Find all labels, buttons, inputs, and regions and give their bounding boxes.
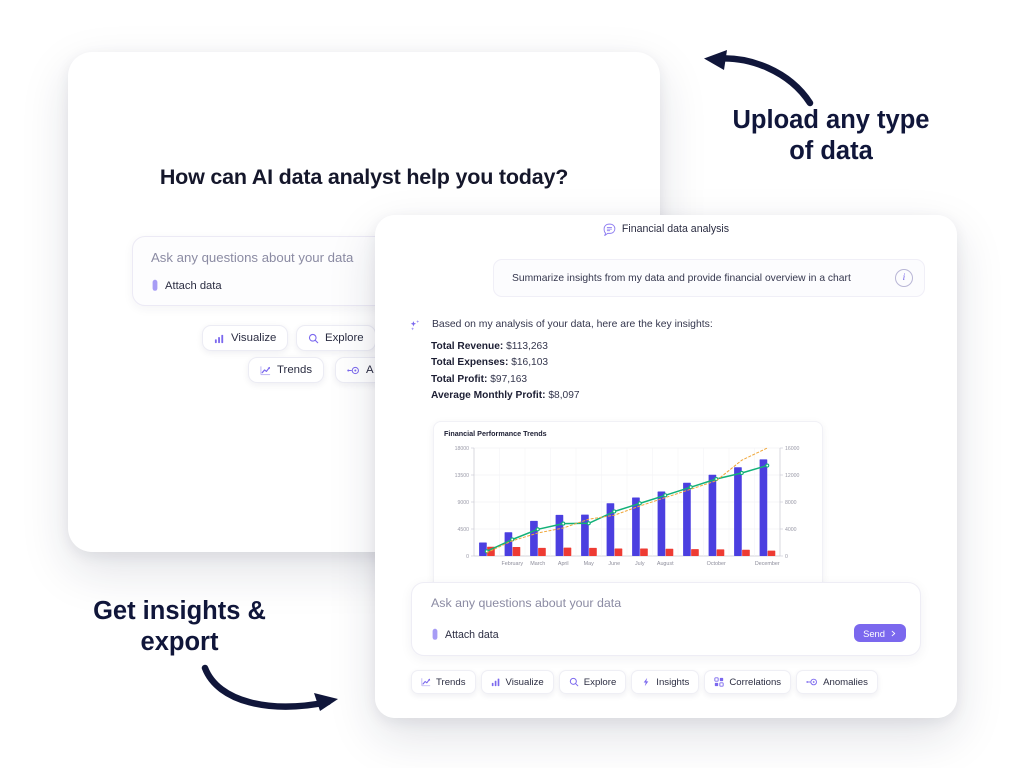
back-chat-input-placeholder: Ask any questions about your data — [151, 250, 353, 265]
chat-composer[interactable]: Ask any questions about your data Attach… — [411, 582, 921, 656]
svg-text:March: March — [530, 561, 545, 567]
paperclip-icon — [151, 279, 159, 292]
chart-title: Financial Performance Trends — [444, 429, 547, 438]
quick-action-toolbar: Trends Visualize Explore — [411, 670, 931, 694]
toolbar-button-anomalies[interactable]: Anomalies — [796, 670, 878, 694]
trend-line-icon — [421, 677, 431, 687]
user-message-text: Summarize insights from my data and prov… — [512, 273, 851, 284]
back-pill-anomalies-label: A — [366, 364, 374, 376]
svg-text:12000: 12000 — [785, 473, 800, 479]
metric-label: Total Revenue: — [431, 341, 503, 352]
metric-value: $97,163 — [490, 374, 527, 385]
svg-text:June: June — [608, 561, 620, 567]
svg-text:0: 0 — [785, 554, 788, 560]
back-pill-visualize[interactable]: Visualize — [202, 325, 288, 351]
metric-row: Total Expenses: $16,103 — [431, 355, 580, 371]
chat-input-placeholder: Ask any questions about your data — [431, 596, 621, 610]
lightning-bolt-icon — [641, 677, 651, 687]
toolbar-button-trends[interactable]: Trends — [411, 670, 476, 694]
toolbar-button-visualize-label: Visualize — [506, 677, 544, 688]
back-attach-label: Attach data — [165, 280, 222, 292]
back-window-heading: How can AI data analyst help you today? — [68, 165, 660, 190]
toolbar-button-visualize[interactable]: Visualize — [481, 670, 554, 694]
toolbar-button-trends-label: Trends — [436, 677, 466, 688]
toolbar-button-explore[interactable]: Explore — [559, 670, 627, 694]
bar-chart-icon — [214, 333, 225, 344]
toolbar-button-insights-label: Insights — [656, 677, 689, 688]
metric-row: Average Monthly Profit: $8,097 — [431, 388, 580, 404]
svg-text:February: February — [501, 561, 523, 567]
chevron-right-icon — [890, 630, 897, 637]
svg-text:April: April — [558, 561, 569, 567]
attach-data-label: Attach data — [445, 629, 499, 641]
toolbar-button-correlations-label: Correlations — [729, 677, 781, 688]
user-message-bubble: Summarize insights from my data and prov… — [493, 259, 925, 297]
svg-text:May: May — [584, 561, 594, 567]
trend-line-icon — [260, 365, 271, 376]
svg-text:4000: 4000 — [785, 527, 797, 533]
svg-text:October: October — [707, 561, 726, 567]
svg-text:18000: 18000 — [455, 446, 470, 452]
back-pill-trends[interactable]: Trends — [248, 357, 324, 383]
assistant-message: Based on my analysis of your data, here … — [408, 319, 713, 333]
back-pill-explore-label: Explore — [325, 332, 364, 344]
back-attach-data-button[interactable]: Attach data — [151, 279, 222, 292]
grid-squares-icon — [714, 677, 724, 687]
sparkles-icon — [408, 319, 422, 333]
metric-label: Total Expenses: — [431, 357, 508, 368]
metric-value: $8,097 — [548, 390, 579, 401]
svg-text:December: December — [755, 561, 780, 567]
send-button[interactable]: Send — [854, 624, 906, 642]
metric-label: Total Profit: — [431, 374, 487, 385]
metric-label: Average Monthly Profit: — [431, 390, 546, 401]
back-pill-trends-label: Trends — [277, 364, 312, 376]
front-window-body: Summarize insights from my data and prov… — [375, 243, 957, 718]
screen: How can AI data analyst help you today? … — [0, 0, 1024, 768]
anomalies-target-icon — [347, 365, 360, 376]
svg-text:16000: 16000 — [785, 446, 800, 452]
chart-svg: 04500900013500180000400080001200016000Fe… — [444, 444, 814, 578]
annotation-insights: Get insights & export — [62, 596, 297, 659]
svg-text:0: 0 — [466, 554, 469, 560]
curved-arrow-right-icon — [200, 660, 350, 725]
back-pill-visualize-label: Visualize — [231, 332, 276, 344]
bar-chart-icon — [491, 677, 501, 687]
metric-value: $16,103 — [511, 357, 548, 368]
svg-text:July: July — [635, 561, 645, 567]
chat-bubble-lines-icon — [603, 223, 616, 236]
annotation-upload: Upload any type of data — [700, 105, 962, 168]
back-pill-explore[interactable]: Explore — [296, 325, 376, 351]
send-button-label: Send — [863, 628, 885, 639]
metric-row: Total Revenue: $113,263 — [431, 339, 580, 355]
front-window: Financial data analysis Summarize insigh… — [375, 215, 957, 718]
anomalies-target-icon — [806, 677, 818, 687]
attach-data-button[interactable]: Attach data — [431, 628, 499, 641]
svg-text:4500: 4500 — [457, 527, 469, 533]
toolbar-button-explore-label: Explore — [584, 677, 617, 688]
front-window-header: Financial data analysis — [375, 215, 957, 244]
assistant-intro-text: Based on my analysis of your data, here … — [432, 319, 713, 333]
curved-arrow-left-icon — [695, 48, 815, 113]
paperclip-icon — [431, 628, 439, 641]
svg-text:13500: 13500 — [455, 473, 470, 479]
svg-text:9000: 9000 — [457, 500, 469, 506]
toolbar-button-insights[interactable]: Insights — [631, 670, 699, 694]
front-window-title: Financial data analysis — [622, 223, 729, 235]
financial-chart-card: Financial Performance Trends 04500900013… — [433, 421, 823, 605]
svg-text:8000: 8000 — [785, 500, 797, 506]
toolbar-button-anomalies-label: Anomalies — [823, 677, 868, 688]
search-icon — [308, 333, 319, 344]
metric-row: Total Profit: $97,163 — [431, 372, 580, 388]
insight-metrics-list: Total Revenue: $113,263 Total Expenses: … — [431, 339, 580, 405]
search-icon — [569, 677, 579, 687]
chart-plot-area: 04500900013500180000400080001200016000Fe… — [444, 444, 814, 578]
metric-value: $113,263 — [506, 341, 548, 352]
info-circle-icon[interactable]: i — [895, 269, 913, 287]
svg-text:August: August — [657, 561, 674, 567]
toolbar-button-correlations[interactable]: Correlations — [704, 670, 791, 694]
